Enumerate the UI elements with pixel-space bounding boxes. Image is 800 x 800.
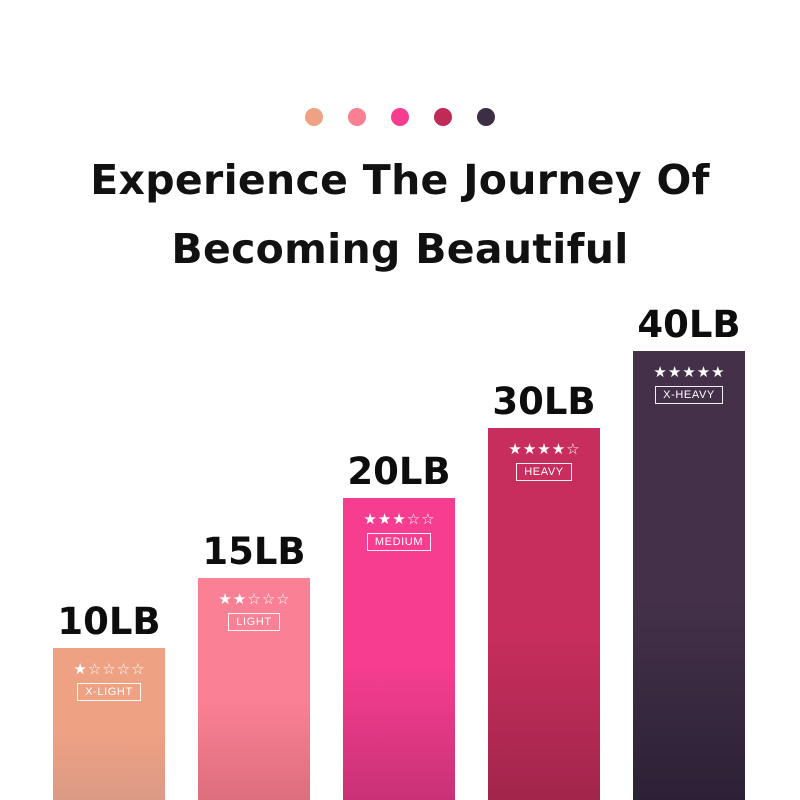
star-filled-icon: ★ (697, 365, 710, 380)
rating-stars: ★★☆☆☆ (218, 592, 289, 607)
bar-30lb[interactable]: ★★★★☆HEAVY (488, 428, 600, 800)
star-filled-icon: ★ (508, 442, 521, 457)
star-empty-icon: ☆ (421, 512, 434, 527)
bar-group-40lb[interactable]: 40LB★★★★★X-HEAVY (633, 351, 745, 800)
star-filled-icon: ★ (682, 365, 695, 380)
star-empty-icon: ☆ (407, 512, 420, 527)
star-empty-icon: ☆ (276, 592, 289, 607)
bar-badge: ★★★☆☆MEDIUM (343, 512, 455, 551)
bar-15lb[interactable]: ★★☆☆☆LIGHT (198, 578, 310, 800)
star-empty-icon: ☆ (117, 662, 130, 677)
rating-stars: ★☆☆☆☆ (73, 662, 144, 677)
bar-badge: ★★★★★X-HEAVY (633, 365, 745, 404)
star-empty-icon: ☆ (102, 662, 115, 677)
star-filled-icon: ★ (552, 442, 565, 457)
bar-20lb[interactable]: ★★★☆☆MEDIUM (343, 498, 455, 800)
level-label: MEDIUM (367, 533, 431, 551)
bar-badge: ★★☆☆☆LIGHT (198, 592, 310, 631)
star-empty-icon: ☆ (131, 662, 144, 677)
product-infographic: Experience The Journey Of Becoming Beaut… (0, 0, 800, 800)
rating-stars: ★★★★☆ (508, 442, 579, 457)
level-label: HEAVY (516, 463, 571, 481)
star-filled-icon: ★ (218, 592, 231, 607)
star-filled-icon: ★ (653, 365, 666, 380)
level-label: X-HEAVY (655, 386, 723, 404)
bar-weight-label: 40LB (637, 303, 740, 347)
star-filled-icon: ★ (523, 442, 536, 457)
rating-stars: ★★★★★ (653, 365, 724, 380)
level-label: LIGHT (228, 613, 279, 631)
resistance-bar-chart: 10LB★☆☆☆☆X-LIGHT15LB★★☆☆☆LIGHT20LB★★★☆☆M… (0, 0, 800, 800)
bar-40lb[interactable]: ★★★★★X-HEAVY (633, 351, 745, 800)
bar-badge: ★★★★☆HEAVY (488, 442, 600, 481)
star-empty-icon: ☆ (262, 592, 275, 607)
star-filled-icon: ★ (392, 512, 405, 527)
bar-weight-label: 10LB (57, 600, 160, 644)
star-empty-icon: ☆ (566, 442, 579, 457)
star-filled-icon: ★ (668, 365, 681, 380)
star-filled-icon: ★ (378, 512, 391, 527)
bar-10lb[interactable]: ★☆☆☆☆X-LIGHT (53, 648, 165, 800)
bar-badge: ★☆☆☆☆X-LIGHT (53, 662, 165, 701)
level-label: X-LIGHT (77, 683, 141, 701)
star-empty-icon: ☆ (247, 592, 260, 607)
star-filled-icon: ★ (711, 365, 724, 380)
bar-weight-label: 15LB (202, 530, 305, 574)
bar-group-20lb[interactable]: 20LB★★★☆☆MEDIUM (343, 498, 455, 800)
bar-group-15lb[interactable]: 15LB★★☆☆☆LIGHT (198, 578, 310, 800)
star-filled-icon: ★ (363, 512, 376, 527)
star-empty-icon: ☆ (88, 662, 101, 677)
bar-weight-label: 20LB (347, 450, 450, 494)
rating-stars: ★★★☆☆ (363, 512, 434, 527)
star-filled-icon: ★ (537, 442, 550, 457)
bar-weight-label: 30LB (492, 380, 595, 424)
star-filled-icon: ★ (233, 592, 246, 607)
star-filled-icon: ★ (73, 662, 86, 677)
bar-group-10lb[interactable]: 10LB★☆☆☆☆X-LIGHT (53, 648, 165, 800)
bar-group-30lb[interactable]: 30LB★★★★☆HEAVY (488, 428, 600, 800)
